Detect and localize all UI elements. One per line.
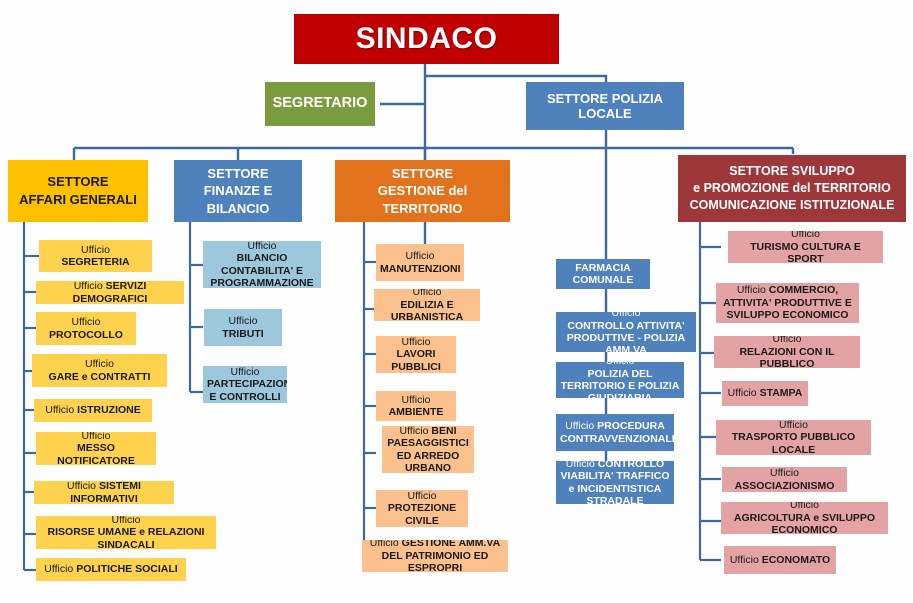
leaf-affari-generali-2[interactable]: Ufficio SERVIZI DEMOGRAFICI bbox=[36, 281, 184, 304]
leaf-affari-generali-4[interactable]: UfficioGARE e CONTRATTI bbox=[32, 354, 167, 387]
node-segretario[interactable]: SEGRETARIO bbox=[265, 82, 375, 126]
leaf-label: Ufficio ASSOCIAZIONISMO bbox=[726, 467, 843, 492]
leaf-label-prefix: Ufficio bbox=[74, 281, 106, 292]
leaf-label: Ufficio ISTRUZIONE bbox=[38, 404, 148, 416]
leaf-label: Ufficio STAMPA bbox=[726, 387, 804, 399]
leaf-sviluppo-promozione-3[interactable]: UfficioRELAZIONI CON IL PUBBLICO bbox=[714, 336, 860, 368]
leaf-label: Ufficio ECONOMATO bbox=[728, 554, 832, 566]
leaf-label: UfficioAMBIENTE bbox=[380, 394, 452, 419]
leaf-label: UfficioBILANCIO CONTABILITA' E PROGRAMMA… bbox=[207, 241, 317, 288]
leaf-label: UfficioPOLIZIA DEL TERRITORIO E POLIZIA … bbox=[560, 362, 680, 398]
sector-territorio-line1: SETTORE bbox=[392, 166, 453, 181]
leaf-label: Ufficio SISTEMI INFORMATIVI bbox=[38, 481, 170, 504]
node-settore-finanze-bilancio[interactable]: SETTORE FINANZE E BILANCIO bbox=[174, 160, 302, 222]
leaf-label-prefix: Ufficio bbox=[730, 554, 762, 566]
leaf-label-prefix: Ufficio bbox=[408, 490, 437, 502]
node-segretario-label: SEGRETARIO bbox=[269, 95, 371, 112]
leaf-label-main: RELAZIONI CON IL PUBBLICO bbox=[739, 346, 834, 368]
leaf-sviluppo-promozione-8[interactable]: Ufficio ECONOMATO bbox=[724, 546, 836, 574]
leaf-label-prefix: Ufficio bbox=[779, 420, 808, 431]
leaf-label-main: CONTROLLO ATTIVITA' PRODUTTIVE - POLIZIA… bbox=[567, 320, 685, 352]
leaf-label-prefix: Ufficio bbox=[231, 366, 260, 378]
leaf-label-main: PROTEZIONE CIVILE bbox=[388, 502, 456, 526]
leaf-label-main: GARE e CONTRATTI bbox=[49, 371, 151, 383]
leaf-label-prefix: Ufficio bbox=[81, 244, 110, 256]
leaf-label-main: MANUTENZIONI bbox=[380, 263, 461, 275]
leaf-sviluppo-promozione-4[interactable]: Ufficio STAMPA bbox=[722, 381, 808, 406]
leaf-label: UfficioPROTEZIONE CIVILE bbox=[380, 490, 464, 527]
leaf-label: UfficioTURISMO CULTURA E SPORT bbox=[732, 231, 879, 263]
node-settore-gestione-territorio[interactable]: SETTORE GESTIONE del TERRITORIO bbox=[335, 160, 510, 222]
leaf-label: UfficioGARE e CONTRATTI bbox=[36, 358, 163, 383]
leaf-label-prefix: Ufficio bbox=[773, 336, 802, 345]
leaf-affari-generali-8[interactable]: UfficioRISORSE UMANE e RELAZIONI SINDACA… bbox=[36, 516, 216, 549]
leaf-label-prefix: Ufficio bbox=[606, 362, 635, 367]
leaf-label: Ufficio POLITICHE SOCIALI bbox=[40, 563, 182, 575]
leaf-label-prefix: Ufficio bbox=[112, 516, 141, 526]
leaf-gestione-territorio-2[interactable]: UfficioEDILIZIA E URBANISTICA bbox=[374, 289, 480, 321]
leaf-label: Ufficio BENI PAESAGGISTICI ED ARREDO URB… bbox=[386, 426, 470, 473]
leaf-label-main: PARTECIPAZIONE E CONTROLLI bbox=[207, 378, 287, 402]
leaf-label: UfficioAGRICOLTURA e SVILUPPO ECONOMICO bbox=[725, 502, 884, 534]
leaf-label-main: TRASPORTO PUBBLICO LOCALE bbox=[732, 431, 855, 455]
leaf-polizia-locale-2[interactable]: UfficioCONTROLLO ATTIVITA' PRODUTTIVE - … bbox=[556, 312, 696, 352]
leaf-label: UfficioRELAZIONI CON IL PUBBLICO bbox=[718, 336, 856, 368]
leaf-polizia-locale-4[interactable]: Ufficio PROCEDURA CONTRAVVENZIONALE bbox=[556, 414, 674, 451]
leaf-label-prefix: Ufficio bbox=[402, 394, 431, 406]
leaf-polizia-locale-1[interactable]: FARMACIA COMUNALE bbox=[556, 259, 650, 289]
leaf-label-prefix: Ufficio bbox=[248, 241, 277, 252]
leaf-label-prefix: Ufficio bbox=[370, 540, 402, 549]
leaf-label-prefix: Ufficio bbox=[612, 312, 641, 319]
leaf-label: Ufficio CONTROLLO VIABILITA' TRAFFICO e … bbox=[560, 461, 670, 504]
sector-finanze-line1: SETTORE bbox=[207, 166, 268, 181]
leaf-label-main: SEGRETERIA bbox=[61, 256, 129, 268]
node-settore-sviluppo-promozione[interactable]: SETTORE SVILUPPO e PROMOZIONE del TERRIT… bbox=[678, 155, 906, 222]
leaf-label: UfficioPROTOCOLLO bbox=[40, 316, 132, 341]
leaf-label-prefix: Ufficio bbox=[67, 481, 99, 492]
leaf-label: FARMACIA COMUNALE bbox=[560, 262, 646, 287]
leaf-label-main: STAMPA bbox=[760, 387, 803, 399]
leaf-sviluppo-promozione-1[interactable]: UfficioTURISMO CULTURA E SPORT bbox=[728, 231, 883, 263]
leaf-gestione-territorio-6[interactable]: UfficioPROTEZIONE CIVILE bbox=[376, 490, 468, 527]
leaf-label-main: ASSOCIAZIONISMO bbox=[735, 480, 835, 492]
leaf-label: Ufficio COMMERCIO, ATTIVITA' PRODUTTIVE … bbox=[720, 284, 855, 321]
leaf-sviluppo-promozione-2[interactable]: Ufficio COMMERCIO, ATTIVITA' PRODUTTIVE … bbox=[716, 283, 859, 323]
leaf-label: UfficioSEGRETERIA bbox=[43, 244, 148, 269]
leaf-gestione-territorio-5[interactable]: Ufficio BENI PAESAGGISTICI ED ARREDO URB… bbox=[382, 426, 474, 473]
leaf-finanze-bilancio-1[interactable]: UfficioBILANCIO CONTABILITA' E PROGRAMMA… bbox=[203, 241, 321, 288]
org-chart: SINDACO SEGRETARIO SETTORE POLIZIA LOCAL… bbox=[0, 0, 913, 603]
leaf-label-main: EDILIZIA E URBANISTICA bbox=[391, 299, 463, 321]
leaf-label-main: AGRICOLTURA e SVILUPPO ECONOMICO bbox=[734, 512, 875, 534]
leaf-label: UfficioRISORSE UMANE e RELAZIONI SINDACA… bbox=[40, 516, 212, 549]
leaf-label-prefix: Ufficio bbox=[566, 461, 598, 470]
leaf-label-main: MESSO NOTIFICATORE bbox=[57, 442, 135, 465]
leaf-label-prefix: Ufficio bbox=[791, 231, 820, 240]
leaf-label-prefix: Ufficio bbox=[229, 315, 258, 327]
node-settore-affari-generali[interactable]: SETTORE AFFARI GENERALI bbox=[8, 160, 148, 222]
leaf-affari-generali-1[interactable]: UfficioSEGRETERIA bbox=[39, 240, 152, 272]
leaf-label-main: RISORSE UMANE e RELAZIONI SINDACALI bbox=[48, 526, 205, 549]
sector-sviluppo-line3: COMUNICAZIONE ISTITUZIONALE bbox=[690, 198, 895, 212]
node-settore-polizia-locale-label: SETTORE POLIZIA LOCALE bbox=[530, 91, 680, 122]
leaf-label-prefix: Ufficio bbox=[72, 316, 101, 328]
leaf-label-prefix: Ufficio bbox=[737, 284, 769, 296]
sector-territorio-line2: GESTIONE del TERRITORIO bbox=[378, 183, 468, 216]
leaf-label-prefix: Ufficio bbox=[44, 563, 76, 575]
leaf-label-prefix: Ufficio bbox=[45, 404, 77, 416]
sector-affari-line1: SETTORE bbox=[47, 174, 108, 189]
leaf-label-main: ISTRUZIONE bbox=[77, 404, 141, 416]
leaf-label-prefix: Ufficio bbox=[770, 467, 799, 479]
leaf-affari-generali-5[interactable]: Ufficio ISTRUZIONE bbox=[34, 399, 152, 422]
leaf-label-prefix: Ufficio bbox=[565, 420, 597, 432]
leaf-label: UfficioMESSO NOTIFICATORE bbox=[40, 432, 152, 465]
leaf-label-prefix: Ufficio bbox=[406, 250, 435, 262]
leaf-affari-generali-7[interactable]: Ufficio SISTEMI INFORMATIVI bbox=[34, 481, 174, 504]
node-settore-polizia-locale[interactable]: SETTORE POLIZIA LOCALE bbox=[526, 82, 684, 130]
leaf-label-main: BILANCIO CONTABILITA' E PROGRAMMAZIONE bbox=[210, 252, 313, 288]
leaf-label: Ufficio TRIBUTI bbox=[208, 315, 278, 340]
sector-affari-line2: AFFARI GENERALI bbox=[19, 192, 137, 207]
leaf-sviluppo-promozione-5[interactable]: UfficioTRASPORTO PUBBLICO LOCALE bbox=[716, 420, 871, 455]
leaf-label-main: AMBIENTE bbox=[389, 406, 444, 418]
leaf-label: UfficioMANUTENZIONI bbox=[380, 250, 460, 275]
leaf-gestione-territorio-3[interactable]: UfficioLAVORI PUBBLICI bbox=[376, 336, 456, 373]
leaf-label: Ufficio PROCEDURA CONTRAVVENZIONALE bbox=[560, 420, 670, 445]
leaf-polizia-locale-5[interactable]: Ufficio CONTROLLO VIABILITA' TRAFFICO e … bbox=[556, 461, 674, 504]
leaf-label-prefix: Ufficio bbox=[402, 336, 431, 348]
leaf-label-main: PROTOCOLLO bbox=[49, 329, 123, 341]
leaf-affari-generali-3[interactable]: UfficioPROTOCOLLO bbox=[36, 312, 136, 345]
leaf-gestione-territorio-4[interactable]: UfficioAMBIENTE bbox=[376, 391, 456, 421]
leaf-label: UfficioLAVORI PUBBLICI bbox=[380, 336, 452, 373]
leaf-label: UfficioEDILIZIA E URBANISTICA bbox=[378, 289, 476, 321]
leaf-label-prefix: Ufficio bbox=[85, 358, 114, 370]
leaf-label-main: POLIZIA DEL TERRITORIO E POLIZIA GIUDIZI… bbox=[561, 368, 680, 398]
leaf-label-prefix: Ufficio bbox=[790, 502, 819, 511]
leaf-gestione-territorio-7[interactable]: Ufficio GESTIONE AMM.VA DEL PATRIMONIO E… bbox=[362, 540, 508, 572]
leaf-label-prefix: Ufficio bbox=[413, 289, 442, 298]
leaf-sviluppo-promozione-7[interactable]: UfficioAGRICOLTURA e SVILUPPO ECONOMICO bbox=[721, 502, 888, 534]
leaf-label: UfficioTRASPORTO PUBBLICO LOCALE bbox=[720, 420, 867, 455]
leaf-label-prefix: Ufficio bbox=[728, 387, 760, 399]
leaf-label-prefix: Ufficio bbox=[400, 426, 432, 437]
leaf-affari-generali-6[interactable]: UfficioMESSO NOTIFICATORE bbox=[36, 432, 156, 465]
leaf-label-prefix: Ufficio bbox=[82, 432, 111, 442]
leaf-label-main: ECONOMATO bbox=[762, 554, 830, 566]
sector-finanze-line2: FINANZE E BILANCIO bbox=[204, 183, 273, 216]
leaf-label: UfficioCONTROLLO ATTIVITA' PRODUTTIVE - … bbox=[560, 312, 692, 352]
leaf-label: UfficioPARTECIPAZIONE E CONTROLLI bbox=[207, 366, 283, 403]
leaf-label: Ufficio SERVIZI DEMOGRAFICI bbox=[40, 281, 180, 304]
leaf-gestione-territorio-1[interactable]: UfficioMANUTENZIONI bbox=[376, 244, 464, 281]
leaf-finanze-bilancio-2[interactable]: Ufficio TRIBUTI bbox=[204, 309, 282, 346]
leaf-label-main: TRIBUTI bbox=[222, 328, 263, 340]
leaf-polizia-locale-3[interactable]: UfficioPOLIZIA DEL TERRITORIO E POLIZIA … bbox=[556, 362, 684, 398]
leaf-label-main: POLITICHE SOCIALI bbox=[76, 563, 178, 575]
leaf-label-main: TURISMO CULTURA E SPORT bbox=[750, 241, 861, 263]
leaf-label: Ufficio GESTIONE AMM.VA DEL PATRIMONIO E… bbox=[366, 540, 504, 572]
node-sindaco-label: SINDACO bbox=[298, 21, 555, 56]
leaf-affari-generali-9[interactable]: Ufficio POLITICHE SOCIALI bbox=[36, 558, 186, 581]
node-sindaco[interactable]: SINDACO bbox=[294, 14, 559, 64]
sector-sviluppo-line2: e PROMOZIONE del TERRITORIO bbox=[693, 181, 891, 195]
leaf-label-main: LAVORI PUBBLICI bbox=[391, 348, 441, 372]
sector-sviluppo-line1: SETTORE SVILUPPO bbox=[729, 164, 855, 178]
leaf-label-main: FARMACIA COMUNALE bbox=[573, 262, 634, 286]
leaf-finanze-bilancio-3[interactable]: UfficioPARTECIPAZIONE E CONTROLLI bbox=[203, 366, 287, 403]
leaf-sviluppo-promozione-6[interactable]: Ufficio ASSOCIAZIONISMO bbox=[722, 467, 847, 492]
